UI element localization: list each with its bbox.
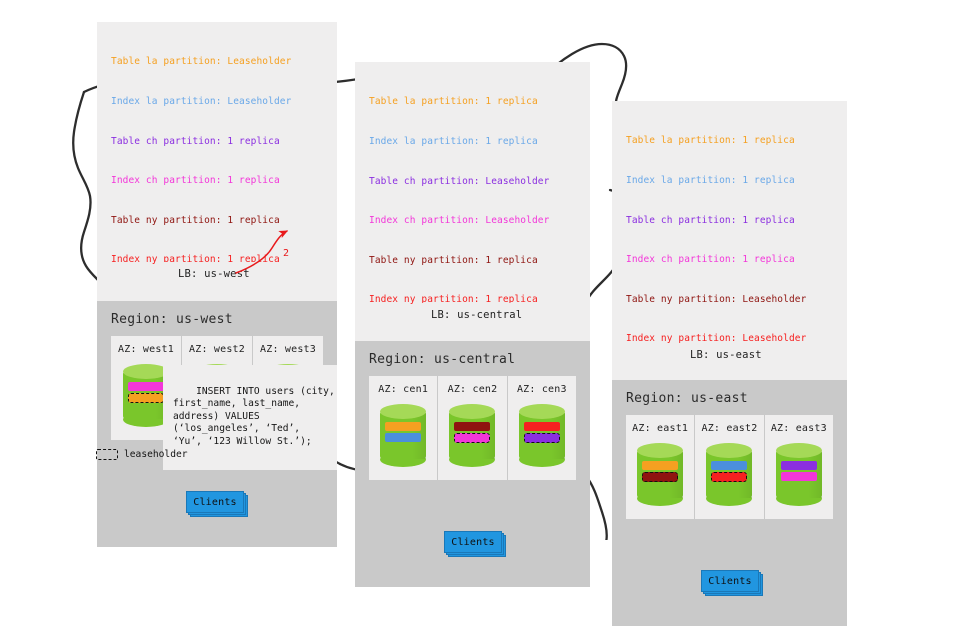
- replica-band: [642, 461, 678, 470]
- replica-bands: [454, 422, 490, 443]
- clients-label: Clients: [186, 491, 244, 513]
- replica-bands: [781, 461, 817, 481]
- partition-panel-us-west: Table la partition: Leaseholder Index la…: [97, 22, 337, 301]
- partition-line: Index ch partition: 1 replica: [111, 174, 327, 187]
- region-title: Region: us-east: [612, 380, 847, 415]
- lb-us-west[interactable]: LB: us-west: [164, 262, 264, 287]
- az-label: AZ: cen1: [378, 384, 428, 395]
- partition-line: Table ch partition: Leaseholder: [369, 175, 580, 188]
- lb-label: LB: us-west: [178, 268, 250, 280]
- replica-band: [524, 422, 560, 431]
- replica-bands: [385, 422, 421, 442]
- cylinder-top: [776, 443, 822, 458]
- replica-band: [385, 433, 421, 442]
- leaseholder-swatch-icon: [96, 449, 118, 460]
- az-strip-us-central: AZ: cen1 AZ: cen2: [369, 376, 576, 480]
- database-cylinder-cen2[interactable]: [449, 404, 495, 466]
- replica-band: [454, 422, 490, 431]
- database-cylinder-cen1[interactable]: [380, 404, 426, 466]
- database-cylinder-east1[interactable]: [637, 443, 683, 505]
- az-label: AZ: west3: [260, 344, 316, 355]
- az-cell-east2[interactable]: AZ: east2: [695, 415, 764, 519]
- replica-bands: [524, 422, 560, 443]
- az-label: AZ: east3: [771, 423, 827, 434]
- clients-us-west[interactable]: Clients: [186, 491, 248, 515]
- partition-line: Table la partition: 1 replica: [369, 95, 580, 108]
- clients-label: Clients: [701, 570, 759, 592]
- az-cell-cen1[interactable]: AZ: cen1: [369, 376, 438, 480]
- az-label: AZ: east2: [701, 423, 757, 434]
- az-cell-east1[interactable]: AZ: east1: [626, 415, 695, 519]
- partition-line: Table la partition: Leaseholder: [111, 55, 327, 68]
- az-cell-east3[interactable]: AZ: east3: [765, 415, 833, 519]
- sql-insert-panel: INSERT INTO users (city, first_name, las…: [163, 365, 337, 470]
- lb-us-east[interactable]: LB: us-east: [676, 343, 776, 368]
- database-cylinder-cen3[interactable]: [519, 404, 565, 466]
- az-label: AZ: east1: [632, 423, 688, 434]
- clients-us-east[interactable]: Clients: [701, 570, 763, 594]
- az-label: AZ: cen3: [517, 384, 567, 395]
- partition-line: Index ch partition: Leaseholder: [369, 214, 580, 227]
- partition-line: Table ch partition: 1 replica: [626, 214, 837, 227]
- partition-line: Index la partition: 1 replica: [626, 174, 837, 187]
- region-title: Region: us-west: [97, 301, 337, 336]
- database-cylinder-east3[interactable]: [776, 443, 822, 505]
- partition-line: Table la partition: 1 replica: [626, 134, 837, 147]
- replica-band: [781, 472, 817, 481]
- clients-label: Clients: [444, 531, 502, 553]
- az-cell-cen2[interactable]: AZ: cen2: [438, 376, 507, 480]
- partition-line: Table ny partition: Leaseholder: [626, 293, 837, 306]
- replica-band: [711, 472, 747, 482]
- cylinder-top: [519, 404, 565, 419]
- az-cell-cen3[interactable]: AZ: cen3: [508, 376, 576, 480]
- lb-label: LB: us-east: [690, 349, 762, 361]
- partition-line: Table ny partition: 1 replica: [369, 254, 580, 267]
- partition-panel-us-east: Table la partition: 1 replica Index la p…: [612, 101, 847, 380]
- replica-band: [385, 422, 421, 431]
- region-box-us-east: Region: us-east AZ: east1: [612, 380, 847, 626]
- region-box-us-central: Region: us-central AZ: cen1: [355, 341, 590, 587]
- arrow-number-label: 2: [283, 248, 289, 259]
- partition-line: Index la partition: 1 replica: [369, 135, 580, 148]
- az-label: AZ: cen2: [448, 384, 498, 395]
- replica-band: [711, 461, 747, 470]
- partition-line: Index la partition: Leaseholder: [111, 95, 327, 108]
- replica-band: [524, 433, 560, 443]
- replica-band: [642, 472, 678, 482]
- replica-band: [781, 461, 817, 470]
- az-label: AZ: west2: [189, 344, 245, 355]
- database-cylinder-east2[interactable]: [706, 443, 752, 505]
- replica-band: [128, 382, 164, 391]
- replica-band: [454, 433, 490, 443]
- partition-line: Table ny partition: 1 replica: [111, 214, 327, 227]
- lb-us-central[interactable]: LB: us-central: [417, 303, 536, 328]
- legend-label: leaseholder: [124, 449, 188, 460]
- replica-bands: [711, 461, 747, 482]
- replica-bands: [642, 461, 678, 482]
- diagram-canvas: Table la partition: Leaseholder Index la…: [0, 0, 960, 540]
- legend: leaseholder: [96, 449, 188, 460]
- replica-bands: [128, 382, 164, 403]
- sql-text: INSERT INTO users (city, first_name, las…: [173, 386, 335, 447]
- region-title: Region: us-central: [355, 341, 590, 376]
- partition-line: Table ch partition: 1 replica: [111, 135, 327, 148]
- az-strip-us-east: AZ: east1 AZ: east2: [626, 415, 833, 519]
- lb-label: LB: us-central: [431, 309, 522, 321]
- replica-band: [128, 393, 164, 403]
- az-label: AZ: west1: [118, 344, 174, 355]
- partition-line: Index ch partition: 1 replica: [626, 253, 837, 266]
- partition-panel-us-central: Table la partition: 1 replica Index la p…: [355, 62, 590, 341]
- clients-us-central[interactable]: Clients: [444, 531, 506, 555]
